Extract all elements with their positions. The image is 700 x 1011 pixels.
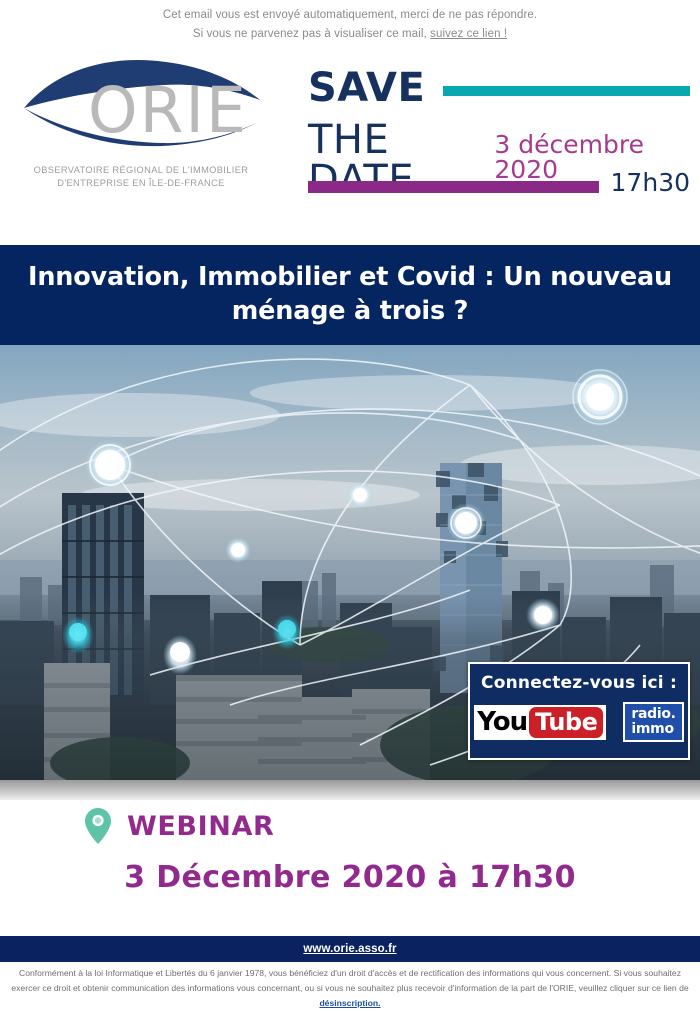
event-title-band: Innovation, Immobilier et Covid : Un nou… [0,245,700,345]
legal-text: Conformément à la loi Informatique et Li… [11,968,688,993]
preheader-line-2-text: Si vous ne parvenez pas à visualiser ce … [193,28,430,40]
save-text: SAVE [308,68,425,108]
network-node [225,537,251,563]
event-hour-text: 17h30 [611,170,690,195]
youtube-word-tube: Tube [529,707,603,738]
save-row: SAVE [308,68,690,108]
website-link[interactable]: www.orie.asso.fr [303,943,396,955]
network-node [62,616,94,654]
radioimmo-logo[interactable]: radio. immo [623,702,683,742]
event-title-line-2: ménage à trois ? [28,295,672,329]
orie-tagline-line-1: OBSERVATOIRE RÉGIONAL DE L'IMMOBILIER [16,164,266,177]
network-node [570,367,630,427]
preheader: Cet email vous est envoyé automatiquemen… [0,0,700,48]
save-the-date-block: SAVE THE DATE 3 décembre 2020 17h30 [300,58,690,228]
youtube-word-you: You [477,709,527,735]
network-node [446,503,486,543]
connect-box[interactable]: Connectez-vous ici : You Tube radio. imm… [468,662,690,760]
view-online-link[interactable]: suivez ce lien ! [430,28,507,40]
event-title-line-1: Innovation, Immobilier et Covid : Un nou… [28,261,672,295]
orie-wordmark: ORIE [88,79,248,142]
webinar-section: WEBINAR 3 Décembre 2020 à 17h30 [0,800,700,930]
youtube-logo[interactable]: You Tube [474,705,606,740]
unsubscribe-link[interactable]: désinscription. [319,998,380,1008]
orie-tagline: OBSERVATOIRE RÉGIONAL DE L'IMMOBILIER D'… [16,164,266,191]
map-pin-icon [85,808,111,844]
network-node [84,439,136,491]
footer-bar: www.orie.asso.fr [0,936,700,962]
hour-row: 17h30 [308,170,690,195]
connect-logos: You Tube radio. immo [470,702,688,742]
radioimmo-line-2: immo [631,722,675,737]
orie-tagline-line-2: D'ENTREPRISE EN ÎLE-DE-FRANCE [16,177,266,190]
webinar-row: WEBINAR [85,808,274,844]
radioimmo-line-1: radio. [631,707,675,722]
connect-heading: Connectez-vous ici : [470,673,688,693]
network-node [347,482,373,508]
webinar-label: WEBINAR [127,813,274,840]
network-node [163,635,197,675]
purple-rule [308,181,599,193]
teal-rule [443,86,690,96]
network-node [272,614,302,650]
network-node [526,598,560,632]
event-title: Innovation, Immobilier et Covid : Un nou… [28,261,672,328]
legal-disclaimer: Conformément à la loi Informatique et Li… [0,966,700,1010]
preheader-line-1: Cet email vous est envoyé automatiquemen… [0,6,700,25]
header: ORIE OBSERVATOIRE RÉGIONAL DE L'IMMOBILI… [0,48,700,233]
orie-logo: ORIE OBSERVATOIRE RÉGIONAL DE L'IMMOBILI… [16,56,266,196]
webinar-date: 3 Décembre 2020 à 17h30 [0,860,700,895]
preheader-line-2: Si vous ne parvenez pas à visualiser ce … [0,25,700,44]
